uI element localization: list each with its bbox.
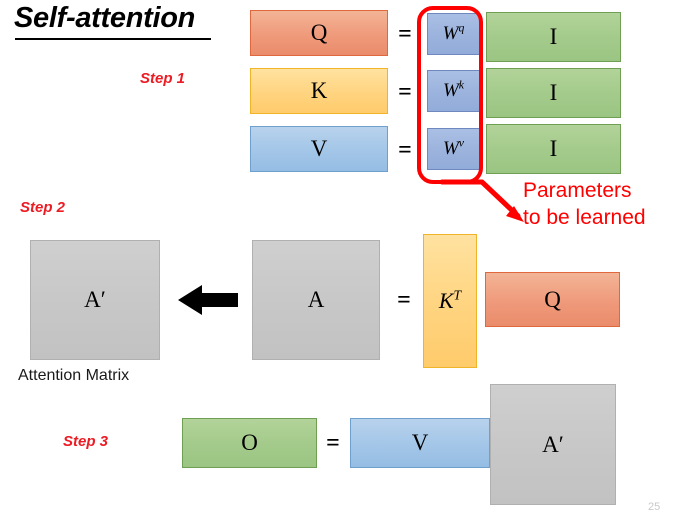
left-arrow-icon: [176, 282, 248, 318]
matrix-box-q-step2: Q: [485, 272, 620, 327]
parameters-callout-text: Parameters to be learned: [523, 178, 699, 232]
matrix-label-q-step2: Q: [544, 287, 561, 313]
equals-sign-row3: =: [394, 138, 416, 162]
callout-line-2: to be learned: [523, 205, 699, 232]
slide-canvas: Self-attention Step 1 Q = Wq I K = Wk I …: [0, 0, 699, 525]
equals-sign-step2: =: [392, 288, 416, 312]
slide-page-number: 25: [648, 501, 660, 513]
page-title: Self-attention: [14, 2, 195, 35]
matrix-label-v: V: [311, 136, 328, 162]
matrix-box-o-step3: O: [182, 418, 317, 468]
matrix-box-k-transpose: KT: [423, 234, 477, 368]
step-2-label: Step 2: [20, 199, 65, 216]
matrix-box-i-row3: I: [486, 124, 621, 174]
matrix-box-a-step2: A: [252, 240, 380, 360]
step-3-label: Step 3: [63, 433, 108, 450]
matrix-label-k: K: [311, 78, 328, 104]
matrix-label-a-prime-step2: A′: [84, 287, 106, 313]
matrix-label-k-transpose: KT: [439, 288, 461, 314]
matrix-label-i-row1: I: [550, 24, 558, 50]
matrix-box-i-row1: I: [486, 12, 621, 62]
equals-sign-row1: =: [394, 22, 416, 46]
title-underline: [15, 38, 211, 40]
matrix-box-a-prime-step2: A′: [30, 240, 160, 360]
matrix-box-q-step1: Q: [250, 10, 388, 56]
matrix-box-v-step1: V: [250, 126, 388, 172]
matrix-label-a: A: [308, 287, 325, 313]
step-1-label: Step 1: [140, 70, 185, 87]
matrix-box-v-step3: V: [350, 418, 490, 468]
matrix-label-o: O: [241, 430, 258, 456]
parameters-highlight-box: [417, 6, 483, 184]
matrix-label-a-prime-step3: A′: [542, 432, 564, 458]
matrix-label-q: Q: [311, 20, 328, 46]
attention-matrix-caption: Attention Matrix: [18, 367, 129, 385]
matrix-label-i-row2: I: [550, 80, 558, 106]
matrix-label-v-step3: V: [412, 430, 429, 456]
equals-sign-row2: =: [394, 80, 416, 104]
matrix-box-a-prime-step3: A′: [490, 384, 616, 505]
callout-line-1: Parameters: [523, 178, 699, 205]
matrix-box-i-row2: I: [486, 68, 621, 118]
matrix-label-i-row3: I: [550, 136, 558, 162]
equals-sign-step3: =: [321, 431, 345, 455]
matrix-box-k-step1: K: [250, 68, 388, 114]
